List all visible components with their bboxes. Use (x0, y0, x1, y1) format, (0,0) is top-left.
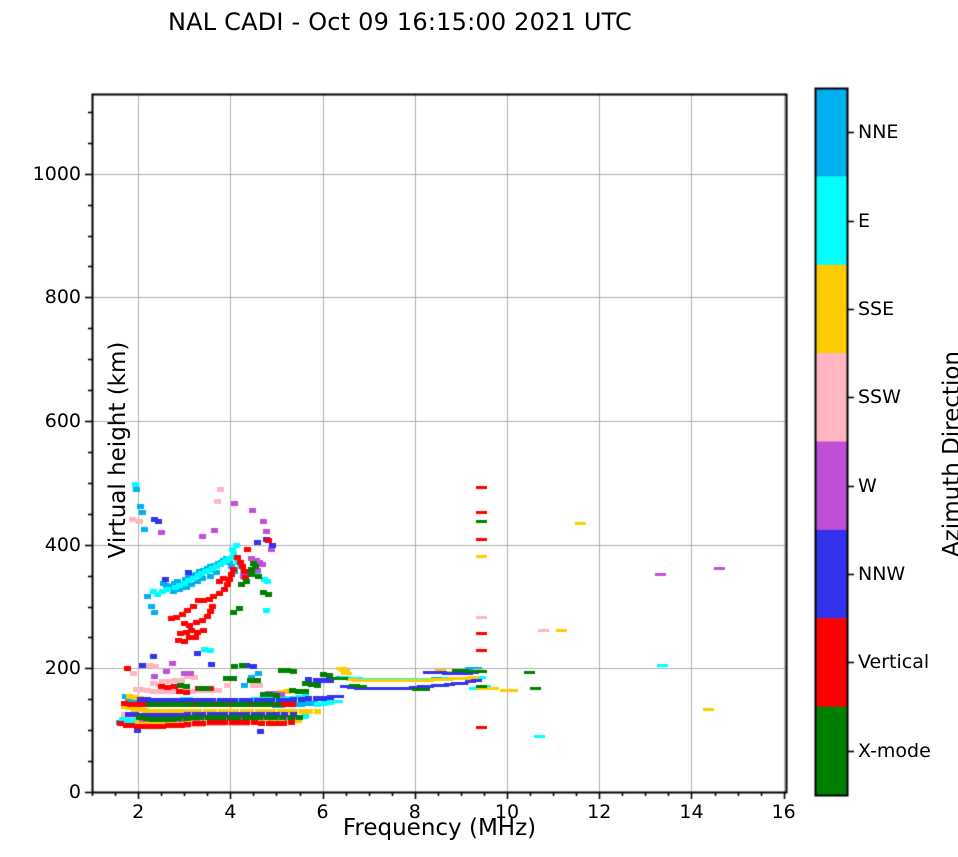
y-tick-label: 1000 (33, 163, 81, 185)
colorbar-tick-label-nnw: NNW (858, 563, 905, 585)
colorbar-tick-label-nne: NNE (858, 121, 898, 143)
colorbar-axis-label: Azimuth Direction (939, 244, 958, 664)
colorbar-tick-label-e: E (858, 210, 870, 232)
y-tick-label: 400 (45, 534, 81, 556)
y-tick-label: 0 (69, 781, 81, 803)
x-tick-label: 8 (409, 801, 421, 823)
x-tick-label: 2 (132, 801, 144, 823)
y-tick-label: 800 (45, 286, 81, 308)
x-tick-label: 6 (317, 801, 329, 823)
ionogram-plot-canvas (0, 0, 958, 857)
x-tick-label: 4 (224, 801, 236, 823)
x-tick-label: 10 (495, 801, 519, 823)
y-axis-label: Virtual height (km) (105, 240, 131, 660)
colorbar-tick-label-sse: SSE (858, 298, 894, 320)
y-tick-label: 200 (45, 657, 81, 679)
colorbar-tick-label-vertical: Vertical (858, 651, 929, 673)
ionogram-figure: NAL CADI - Oct 09 16:15:00 2021 UTC Freq… (0, 0, 958, 857)
colorbar-tick-label-ssw: SSW (858, 386, 901, 408)
x-tick-label: 16 (772, 801, 796, 823)
x-tick-label: 14 (679, 801, 703, 823)
colorbar-tick-label-w: W (858, 475, 877, 497)
y-tick-label: 600 (45, 410, 81, 432)
x-tick-label: 12 (587, 801, 611, 823)
colorbar-tick-label-x-mode: X-mode (858, 740, 931, 762)
